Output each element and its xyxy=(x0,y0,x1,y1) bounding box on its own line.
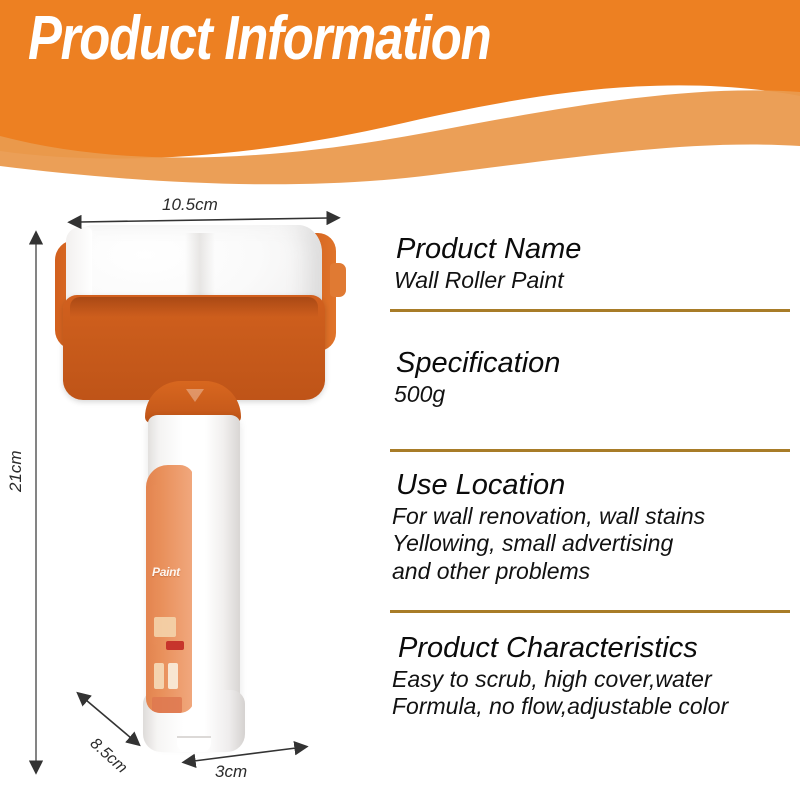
spec-value-use-location-line-1: For wall renovation, wall stains xyxy=(392,503,790,531)
specification-panel: Product Name Wall Roller Paint Specifica… xyxy=(390,232,790,721)
spec-value-use-location-line-2: Yellowing, small advertising xyxy=(392,530,790,558)
spec-heading-use-location: Use Location xyxy=(396,468,790,502)
spec-value-characteristics-line-2: Formula, no flow,adjustable color xyxy=(392,693,790,721)
spec-value-product-name: Wall Roller Paint xyxy=(394,267,790,295)
spec-heading-specification: Specification xyxy=(396,346,790,380)
product-image: Paint xyxy=(0,185,380,800)
spec-value-characteristics-line-1: Easy to scrub, high cover,water xyxy=(392,666,790,694)
handle-label-graphic-b xyxy=(166,641,184,650)
spec-heading-product-name: Product Name xyxy=(396,232,790,266)
handle-label-graphic-c xyxy=(154,663,164,689)
spec-section-product-characteristics: Product Characteristics Easy to scrub, h… xyxy=(390,613,790,721)
spec-value-specification: 500g xyxy=(394,381,790,409)
roller-endcap-tab-icon xyxy=(330,263,346,297)
handle-label-graphic-a xyxy=(154,617,176,637)
handle-label-text: Paint xyxy=(152,565,192,579)
handle-label-graphic-e xyxy=(152,697,182,713)
spec-section-product-name: Product Name Wall Roller Paint xyxy=(390,232,790,309)
page-title: Product Information xyxy=(28,8,490,70)
spec-section-use-location: Use Location For wall renovation, wall s… xyxy=(390,452,790,610)
spec-section-specification: Specification 500g xyxy=(390,312,790,449)
spec-value-use-location-line-3: and other problems xyxy=(392,558,790,586)
handle-product-label: Paint xyxy=(146,465,192,713)
roller-frame-inner-shadow xyxy=(70,297,318,317)
handle-foot-notch xyxy=(177,736,211,752)
header-banner: Product Information xyxy=(0,0,800,185)
collar-triangle-icon xyxy=(186,389,204,402)
handle-label-graphic-d xyxy=(168,663,178,689)
spec-heading-product-characteristics: Product Characteristics xyxy=(398,631,790,665)
